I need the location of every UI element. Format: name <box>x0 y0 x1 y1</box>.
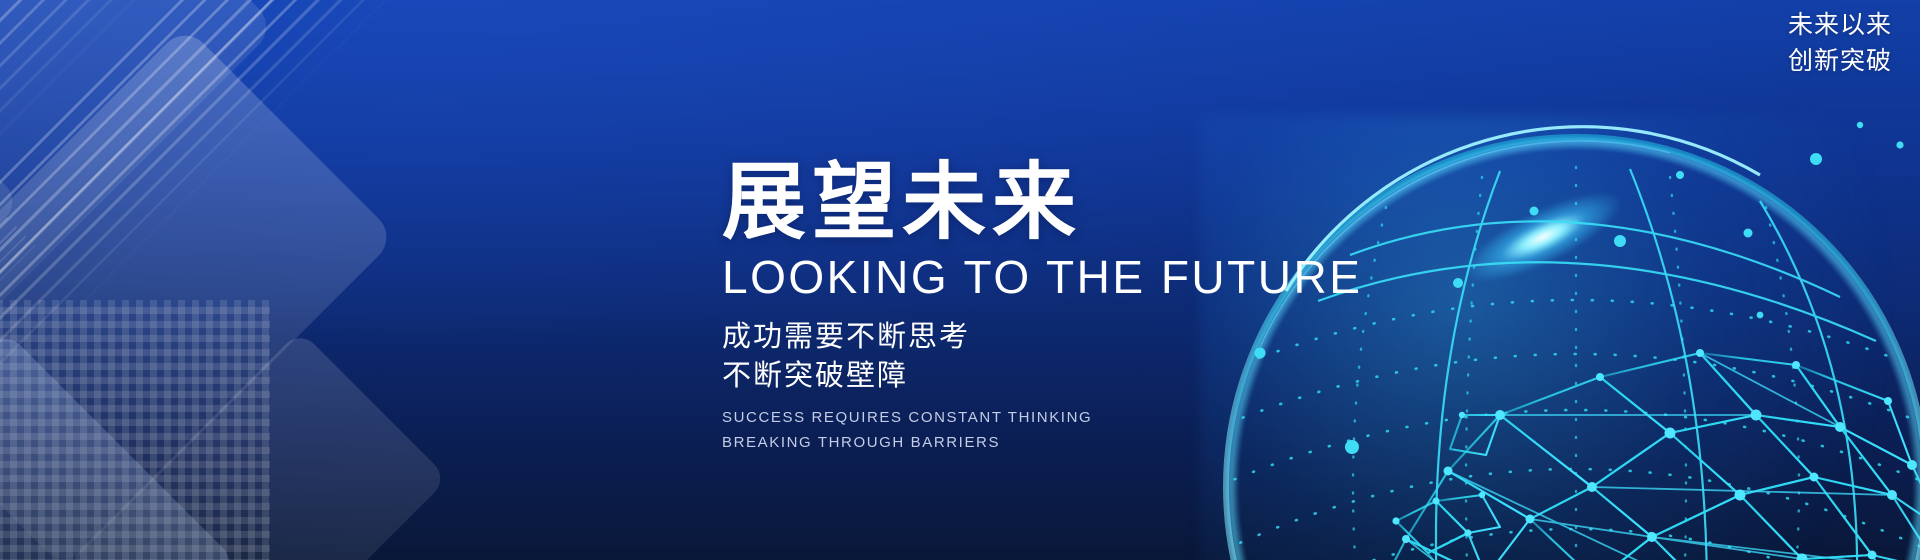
subtitle-english-line-1: SUCCESS REQUIRES CONSTANT THINKING <box>722 406 1482 430</box>
corner-tagline-line-1: 未来以来 <box>1788 8 1892 44</box>
subtitle-english-line-2: BREAKING THROUGH BARRIERS <box>722 431 1482 455</box>
corner-tagline-line-2: 创新突破 <box>1788 44 1892 80</box>
headline-english: LOOKING TO THE FUTURE <box>722 254 1482 300</box>
headline-block: 展望未来 LOOKING TO THE FUTURE 成功需要不断思考 不断突破… <box>722 160 1482 455</box>
corner-tagline: 未来以来 创新突破 <box>1788 8 1892 79</box>
subtitle-chinese-line-2: 不断突破壁障 <box>722 357 1482 396</box>
headline-chinese: 展望未来 <box>722 160 1482 244</box>
subtitle-chinese-line-1: 成功需要不断思考 <box>722 318 1482 357</box>
hero-banner: 未来以来 创新突破 展望未来 LOOKING TO THE FUTURE 成功需… <box>0 0 1920 560</box>
